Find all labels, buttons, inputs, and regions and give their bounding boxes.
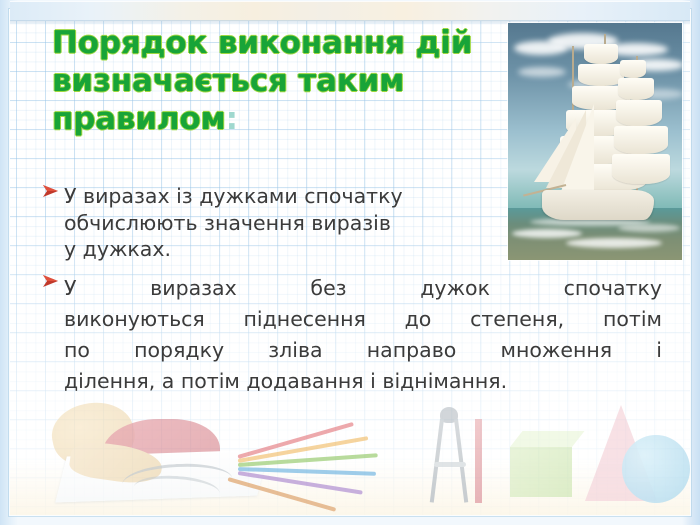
list-item: У виразах із дужками спочатку обчислюють… xyxy=(42,183,484,263)
title-line-1: Порядок виконання дій xyxy=(52,25,472,61)
list-item: У виразах без дужок спочатку виконуються… xyxy=(42,273,662,398)
sail-shape xyxy=(614,126,668,154)
red-arrow-bullet-icon xyxy=(42,273,64,289)
sail-shape xyxy=(620,60,646,78)
list-item-line: ділення, а потім додавання і віднімання. xyxy=(64,366,662,397)
red-arrow-bullet-icon xyxy=(42,183,64,199)
list-item-line: У виразах із дужками спочатку xyxy=(64,183,484,210)
ship-hull-shape xyxy=(542,190,654,220)
tall-sailing-ship-photo xyxy=(508,23,682,260)
cloud-shape xyxy=(518,67,566,77)
list-item-line: У виразах без дужок спочатку xyxy=(64,273,662,304)
list-item-line: по порядку зліва направо множення і xyxy=(64,335,662,366)
sea-foam-shape xyxy=(566,238,662,248)
sail-shape xyxy=(616,100,662,126)
page-title: Порядок виконання дійвизначається такимп… xyxy=(52,25,502,138)
sail-shape xyxy=(584,44,618,64)
title-line-3: правилом xyxy=(52,101,226,137)
sea-foam-shape xyxy=(512,229,582,238)
title-line-2: визначається таким xyxy=(52,63,404,99)
sail-shape xyxy=(612,154,670,184)
list-item-line: у дужках. xyxy=(64,236,484,263)
slide: Порядок виконання дійвизначається такимп… xyxy=(0,0,700,525)
sea-foam-shape xyxy=(618,224,680,232)
list-item-line: обчислюють значення виразів xyxy=(64,210,484,237)
list-item-line: виконуються піднесення до степеня, потім xyxy=(64,304,662,335)
title-colon: : xyxy=(226,101,238,137)
sail-shape xyxy=(618,78,654,100)
jib-sail-shape xyxy=(560,104,594,194)
